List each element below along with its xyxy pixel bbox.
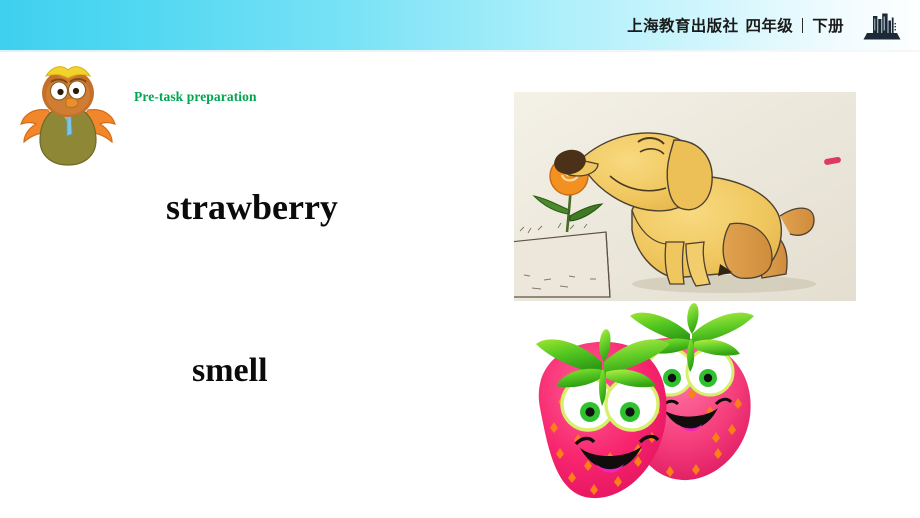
- volume-label: 下册: [812, 14, 844, 36]
- dog-smelling-flower-picture: [514, 92, 856, 301]
- vocabulary-word-smell: smell: [192, 352, 268, 390]
- publisher-name: 上海教育出版社: [627, 14, 738, 36]
- header-title: 上海教育出版社 四年级 下册: [627, 0, 844, 50]
- cartoon-strawberries-picture: [492, 300, 782, 518]
- grade-label: 四年级: [745, 14, 793, 36]
- book-stack-logo-icon: [860, 11, 904, 41]
- vocabulary-word-strawberry: strawberry: [166, 186, 338, 228]
- section-title: Pre-task preparation: [134, 89, 257, 105]
- owl-mascot-icon: [18, 62, 118, 166]
- header-divider: [802, 18, 803, 33]
- header-underline: [0, 50, 920, 52]
